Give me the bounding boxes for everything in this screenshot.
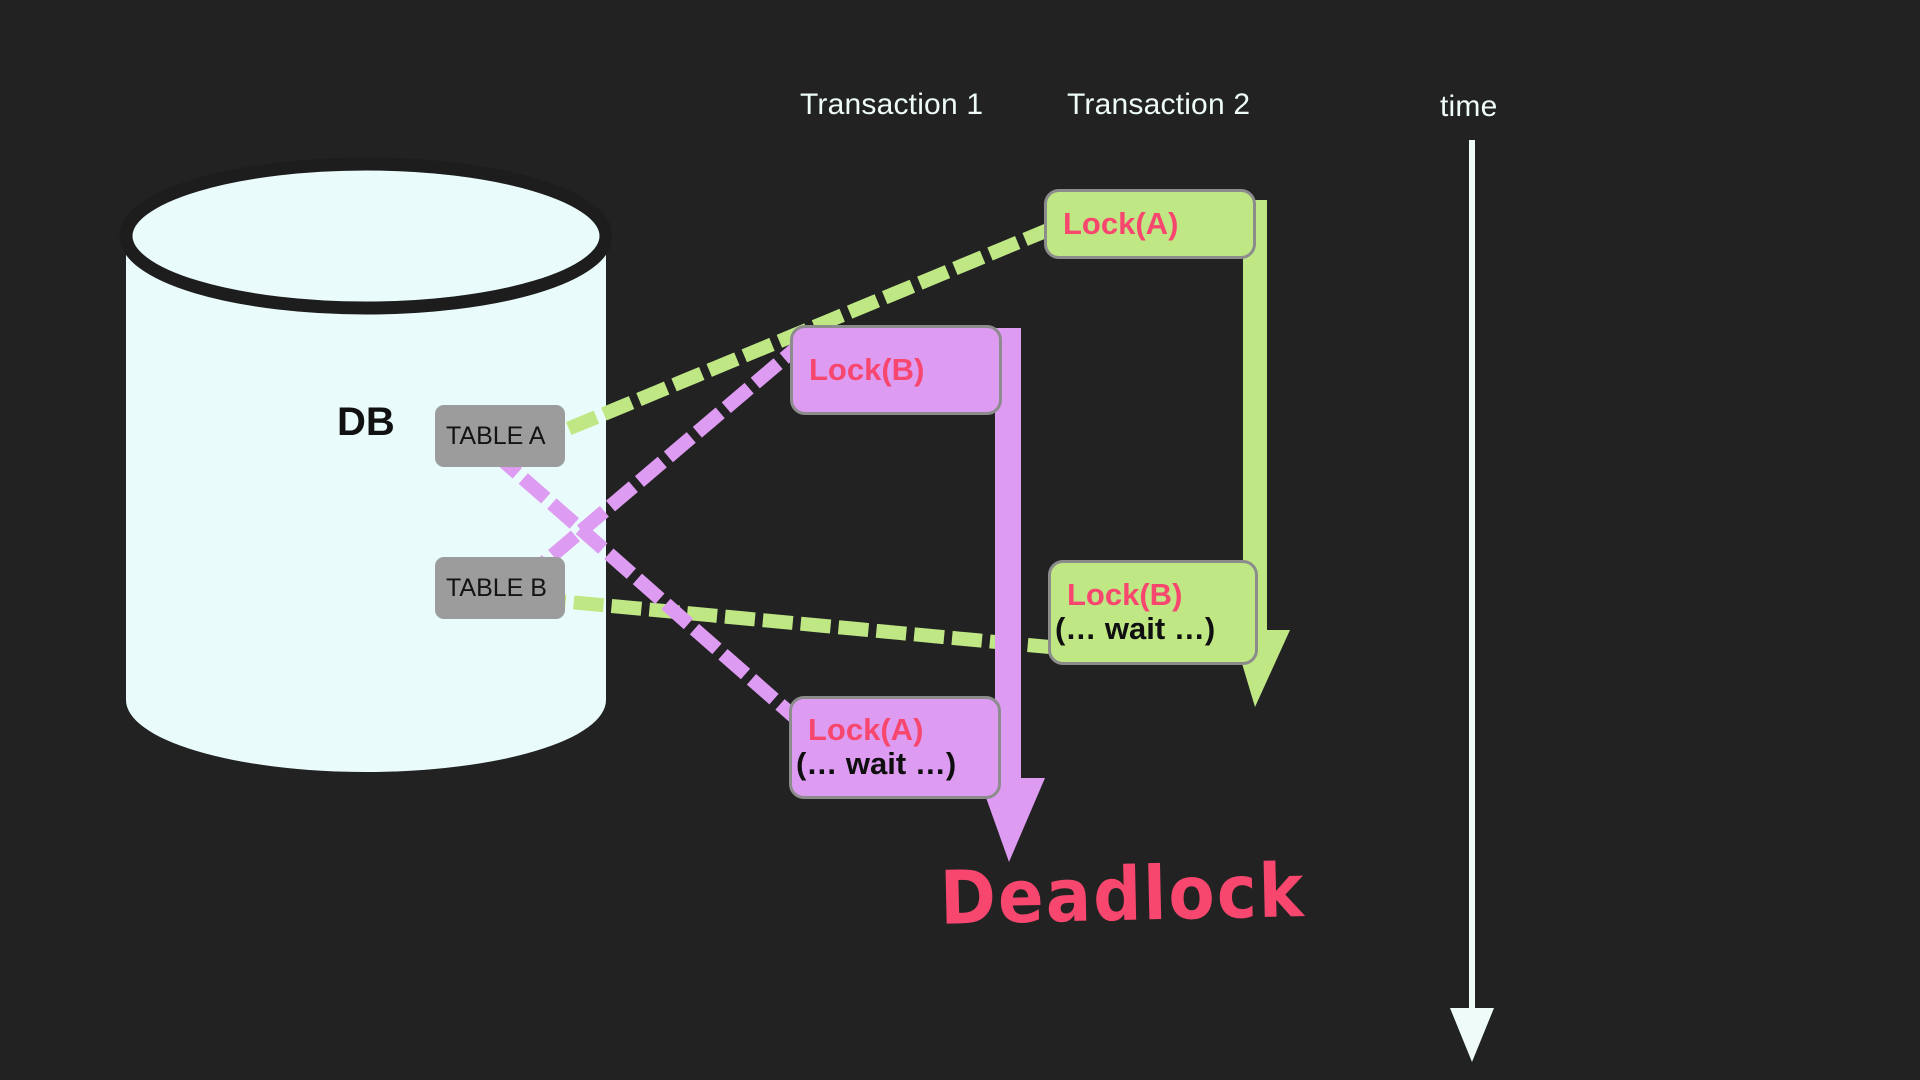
step-title-t1-lock-b: Lock(B) bbox=[809, 354, 999, 387]
db-cylinder-top bbox=[126, 164, 606, 308]
db-cylinder-body bbox=[126, 236, 606, 772]
table-a-label: TABLE A bbox=[446, 422, 546, 451]
step-sub-t1-lock-a-wait: (… wait …) bbox=[796, 747, 998, 782]
step-box-t2-lock-a[interactable]: Lock(A) bbox=[1044, 189, 1256, 259]
column-header-time: time bbox=[1440, 90, 1497, 124]
column-header-transaction-2: Transaction 2 bbox=[1067, 88, 1250, 122]
diagram-canvas: Transaction 1 Transaction 2 time DB TABL… bbox=[0, 0, 1920, 1080]
table-box-b[interactable]: TABLE B bbox=[435, 557, 565, 619]
time-axis-arrowhead bbox=[1450, 1008, 1494, 1062]
step-title-t1-lock-a-wait: Lock(A) bbox=[808, 714, 998, 747]
time-axis bbox=[1450, 140, 1494, 1062]
deadlock-annotation: Deadlock bbox=[939, 848, 1306, 942]
step-title-t2-lock-a: Lock(A) bbox=[1063, 208, 1253, 241]
step-box-t1-lock-a-wait[interactable]: Lock(A) (… wait …) bbox=[789, 696, 1001, 799]
step-sub-t2-lock-b-wait: (… wait …) bbox=[1055, 612, 1255, 647]
column-header-transaction-1: Transaction 1 bbox=[800, 88, 983, 122]
table-b-label: TABLE B bbox=[446, 574, 547, 603]
step-box-t2-lock-b-wait[interactable]: Lock(B) (… wait …) bbox=[1048, 560, 1258, 665]
table-box-a[interactable]: TABLE A bbox=[435, 405, 565, 467]
db-label: DB bbox=[337, 400, 395, 445]
step-title-t2-lock-b-wait: Lock(B) bbox=[1067, 579, 1255, 612]
step-box-t1-lock-b[interactable]: Lock(B) bbox=[790, 325, 1002, 415]
db-cylinder bbox=[126, 164, 606, 772]
